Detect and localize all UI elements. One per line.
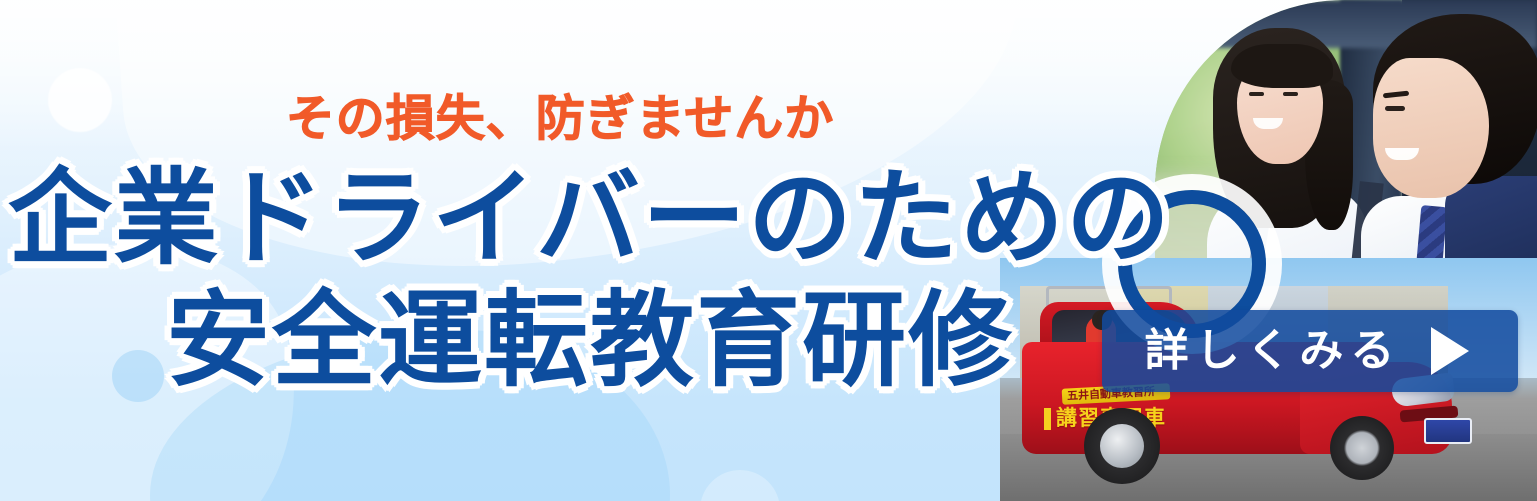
banner-headline: 企業ドライバーのための 安全運転教育研修 xyxy=(0,160,1180,398)
play-triangle-icon xyxy=(1431,327,1469,375)
car-door-sign-bar xyxy=(1044,408,1051,430)
man-face xyxy=(1373,58,1489,198)
details-cta-button[interactable]: 詳しくみる xyxy=(1102,310,1518,392)
man-eye xyxy=(1385,106,1405,111)
couple-in-car-photo xyxy=(1155,0,1537,300)
background-circle-3 xyxy=(700,470,780,501)
banner-subheadline: その損失、防ぎませんか xyxy=(0,90,1120,148)
headline-line-1: 企業ドライバーのための xyxy=(0,160,1180,276)
car-wheel-front xyxy=(1330,416,1394,480)
woman-eye-right xyxy=(1283,92,1298,96)
details-cta-label: 詳しくみる xyxy=(1145,326,1402,376)
woman-eye-left xyxy=(1249,92,1264,96)
car-license-plate xyxy=(1424,418,1472,444)
car-wheel-hub xyxy=(1100,424,1144,468)
headline-line-2: 安全運転教育研修 xyxy=(0,282,1180,398)
promo-banner: 五井自動車教習所 講習専用車 その損失、防ぎませんか 企業ドライバーのための 安… xyxy=(0,0,1537,501)
woman-fringe xyxy=(1231,44,1333,88)
